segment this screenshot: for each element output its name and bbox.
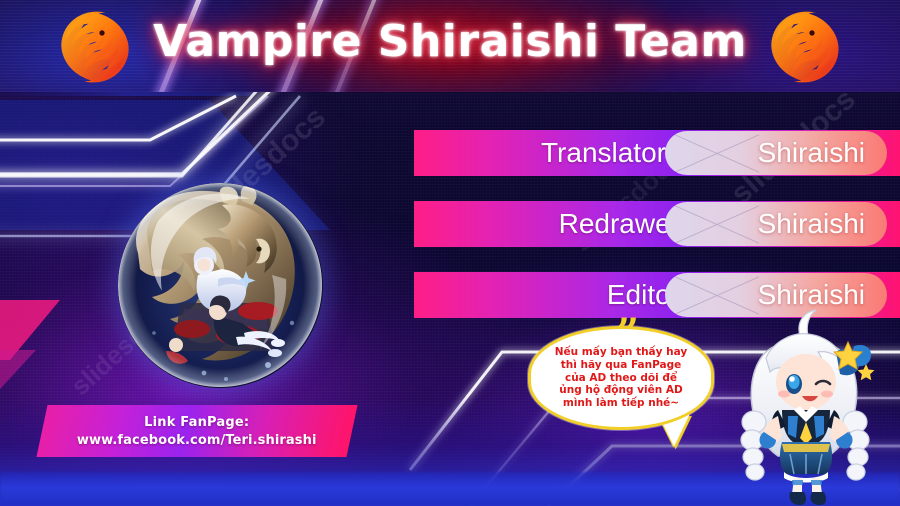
credit-role-label: Translators bbox=[430, 137, 680, 169]
credit-row-redrawer[interactable]: Redrawer Shiraishi bbox=[414, 201, 900, 247]
fanpage-label: Link FanPage: bbox=[77, 415, 317, 430]
fanpage-banner-content: Link FanPage: www.facebook.com/Teri.shir… bbox=[77, 415, 317, 448]
speech-bubble-group: Nếu mấy bạn thấy hay thì hãy qua FanPage… bbox=[528, 316, 733, 441]
credit-name-label: Shiraishi bbox=[758, 208, 887, 240]
fanpage-link-banner[interactable]: Link FanPage: www.facebook.com/Teri.shir… bbox=[36, 405, 357, 457]
artwork-circle bbox=[118, 183, 323, 388]
bubble-line-5: mình làm tiếp nhé~ bbox=[563, 397, 679, 409]
bubble-line-2: thì hãy qua FanPage bbox=[561, 359, 681, 371]
bubble-line-3: của AD theo dõi để bbox=[565, 372, 677, 384]
credit-role-label: Redrawer bbox=[430, 208, 680, 240]
credit-name-pill[interactable]: Shiraishi bbox=[665, 131, 887, 175]
pill-cross-pattern bbox=[671, 204, 763, 244]
bubble-line-4: ủng hộ động viên AD bbox=[559, 384, 682, 396]
chibi-mascot-illustration bbox=[708, 306, 898, 506]
fanpage-url: www.facebook.com/Teri.shirashi bbox=[77, 433, 317, 448]
credit-row-translators[interactable]: Translators Shiraishi bbox=[414, 130, 900, 176]
header-banner: Vampire Shiraishi Team bbox=[0, 0, 900, 92]
credit-name-label: Shiraishi bbox=[758, 137, 887, 169]
slide-canvas: Vampire Shiraishi Team slidesdocs slides… bbox=[0, 0, 900, 506]
quotation-mark-icon: ” bbox=[616, 314, 637, 354]
credit-name-pill[interactable]: Shiraishi bbox=[665, 273, 887, 317]
pill-cross-pattern bbox=[671, 133, 763, 173]
credit-role-label: Editor bbox=[430, 279, 680, 311]
credit-name-label: Shiraishi bbox=[758, 279, 887, 311]
credit-name-pill[interactable]: Shiraishi bbox=[665, 202, 887, 246]
page-title: Vampire Shiraishi Team bbox=[0, 16, 900, 67]
artwork-illustration bbox=[118, 183, 323, 388]
